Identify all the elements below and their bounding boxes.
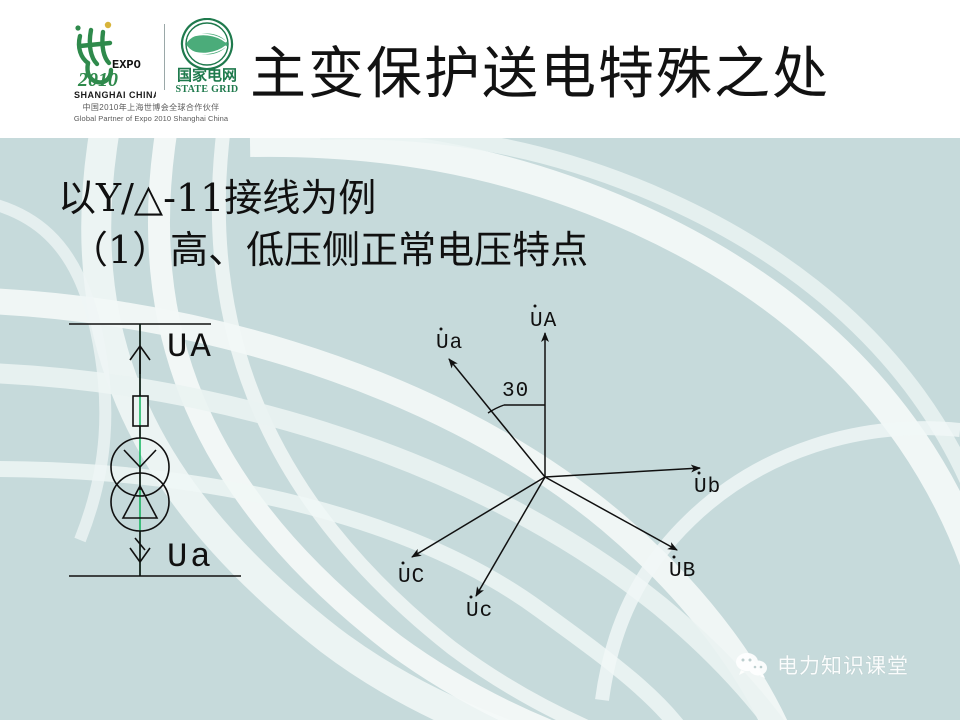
body-text-block: 以Y/△-11接线为例 （1）高、低压侧正常电压特点 (58, 172, 588, 276)
slide-canvas: EXPO 2010 SHANGHAI CHINA 国家电网 STATE GRID… (0, 0, 960, 720)
phasor-UC-arrow (412, 477, 545, 557)
wechat-watermark-label: 电力知识课堂 (777, 650, 909, 680)
phasor-UB-arrow (545, 477, 677, 550)
phasor-label-UC: UC (398, 566, 425, 589)
logo-divider (164, 24, 165, 90)
page-title: 主变保护送电特殊之处 (250, 44, 830, 106)
phasor-Uc-arrow (476, 477, 545, 596)
phasor-label-Ub: Ub (694, 476, 721, 499)
angle-label-30: 30 (502, 380, 529, 403)
logo-caption-en: Global Partner of Expo 2010 Shanghai Chi… (62, 114, 240, 123)
phasor-label-Uc: Uc (466, 600, 493, 620)
expo-2010-logo-icon: EXPO 2010 SHANGHAI CHINA (64, 18, 156, 100)
label-low-voltage: Ua (167, 539, 214, 577)
wechat-icon (735, 651, 769, 679)
svg-text:2010: 2010 (77, 69, 118, 91)
phasor-vector-diagram: 30 UA Ua Ub UB UC Uc (380, 300, 750, 620)
state-grid-logo-icon: 国家电网 STATE GRID (174, 18, 240, 100)
partner-logo-block: EXPO 2010 SHANGHAI CHINA 国家电网 STATE GRID… (62, 16, 240, 128)
logo-caption-cn: 中国2010年上海世博会全球合作伙伴 (62, 102, 240, 113)
phasor-label-Ua: Ua (436, 332, 463, 355)
phasor-label-UA: UA (530, 310, 557, 333)
label-high-voltage: UA (167, 329, 214, 367)
wechat-watermark: 电力知识课堂 (735, 650, 909, 680)
body-line-1: 以Y/△-11接线为例 (58, 172, 588, 224)
phasor-label-UB: UB (669, 560, 696, 583)
svg-text:STATE GRID: STATE GRID (176, 84, 239, 95)
svg-text:国家电网: 国家电网 (177, 66, 237, 84)
body-line-2: （1）高、低压侧正常电压特点 (58, 224, 588, 276)
svg-text:SHANGHAI CHINA: SHANGHAI CHINA (74, 90, 156, 100)
single-line-circuit-diagram: UA Ua (55, 300, 335, 600)
phasor-Ub-arrow (545, 468, 700, 477)
phasor-Ua-arrow (449, 359, 545, 477)
